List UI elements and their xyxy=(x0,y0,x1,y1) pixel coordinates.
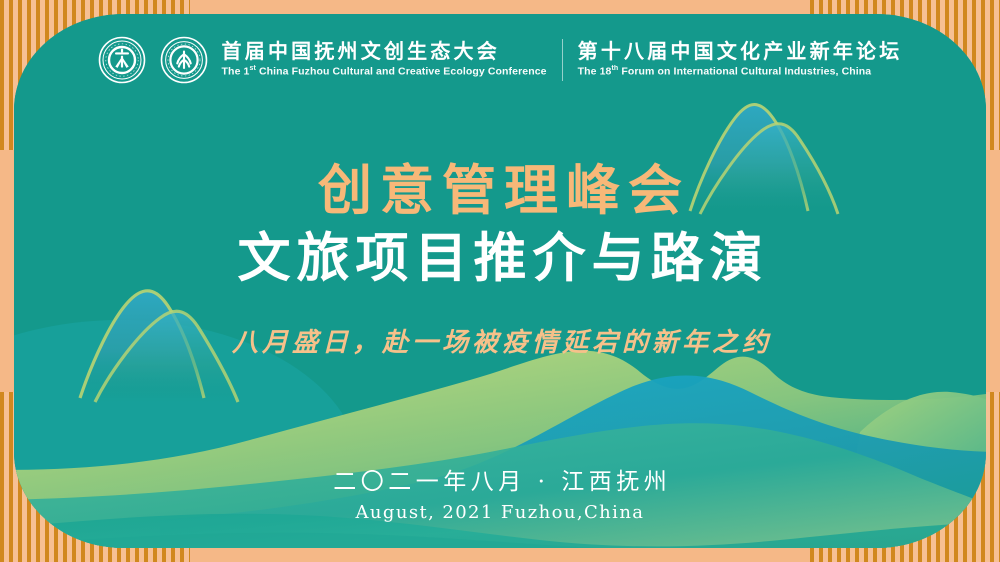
org-en-prefix: The 18 xyxy=(578,66,612,78)
event-poster: 首届中国抚州文创生态大会 The 1st China Fuzhou Cultur… xyxy=(0,0,1000,562)
org-en-rest: Forum on International Cultural Industri… xyxy=(618,66,871,78)
poster-title-group: 创意管理峰会 文旅项目推介与路演 xyxy=(0,160,1000,290)
poster-subtitle: 八月盛日，赴一场被疫情延宕的新年之约 xyxy=(0,322,1000,359)
footer-date-location-en: August, 2021 Fuzhou,China xyxy=(0,500,1000,526)
org-name-en-fuzhou: The 1st China Fuzhou Cultural and Creati… xyxy=(222,64,547,80)
header-divider xyxy=(562,39,563,81)
org-name-en-forum: The 18th Forum on International Cultural… xyxy=(578,64,903,80)
poster-footer: 二〇二一年八月 · 江西抚州 August, 2021 Fuzhou,China xyxy=(0,468,1000,526)
fuzhou-cultural-seal-logo xyxy=(98,36,146,84)
peking-university-logo xyxy=(160,36,208,84)
poster-header: 首届中国抚州文创生态大会 The 1st China Fuzhou Cultur… xyxy=(0,36,1000,84)
main-title-primary: 创意管理峰会 xyxy=(0,160,1000,223)
main-title-secondary: 文旅项目推介与路演 xyxy=(0,227,1000,291)
org-en-prefix: The 1 xyxy=(222,66,250,78)
footer-date-location-cn: 二〇二一年八月 · 江西抚州 xyxy=(0,468,1000,498)
org-name-cn-forum: 第十八届中国文化产业新年论坛 xyxy=(578,40,903,64)
org-block-fuzhou: 首届中国抚州文创生态大会 The 1st China Fuzhou Cultur… xyxy=(222,40,547,81)
org-block-forum: 第十八届中国文化产业新年论坛 The 18th Forum on Interna… xyxy=(578,40,903,81)
org-en-rest: China Fuzhou Cultural and Creative Ecolo… xyxy=(256,66,547,78)
org-name-cn-fuzhou: 首届中国抚州文创生态大会 xyxy=(222,40,547,64)
